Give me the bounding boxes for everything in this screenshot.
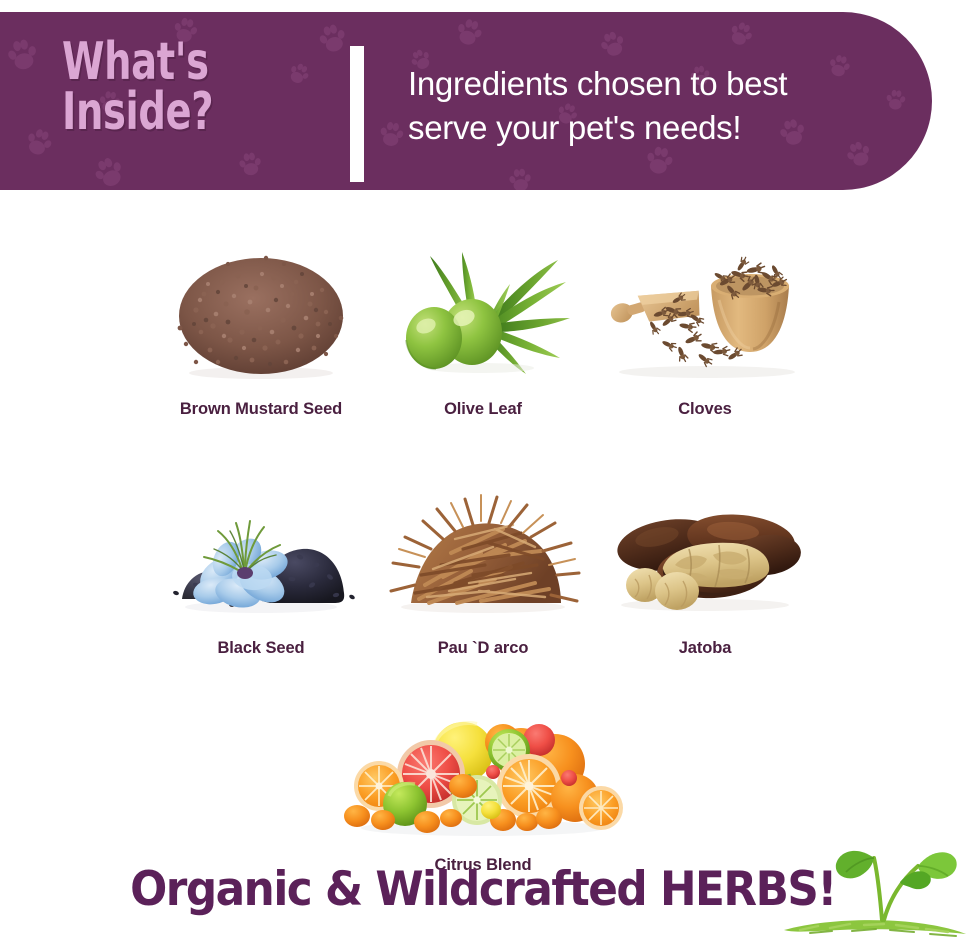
jatoba-pods-image bbox=[605, 475, 805, 623]
infographic-page: What's Inside? Ingredients chosen to bes… bbox=[0, 0, 966, 950]
banner-tagline: Ingredients chosen to best serve your pe… bbox=[408, 62, 918, 150]
header-banner: What's Inside? Ingredients chosen to bes… bbox=[0, 12, 932, 190]
ingredient-item-olive-leaf: Olive Leaf bbox=[372, 236, 594, 419]
ingredient-label: Black Seed bbox=[217, 639, 304, 658]
ingredient-row: Brown Mustard Seed bbox=[0, 236, 966, 419]
banner-heading: What's Inside? bbox=[62, 38, 262, 138]
ingredient-label: Brown Mustard Seed bbox=[180, 400, 342, 419]
ingredient-row: Black Seed bbox=[0, 475, 966, 658]
ingredient-label: Olive Leaf bbox=[444, 400, 522, 419]
mustard-seed-pile-image bbox=[161, 236, 361, 384]
citrus-fruit-assortment-image bbox=[343, 710, 623, 840]
cloves-bowl-and-scoop-image bbox=[605, 236, 805, 384]
nigella-flower-and-black-seeds-image bbox=[161, 475, 361, 623]
footer-headline: Organic & Wildcrafted HERBS! bbox=[34, 862, 932, 917]
footer-headline-area: Organic & Wildcrafted HERBS! bbox=[0, 848, 966, 944]
pau-darco-bark-shavings-image bbox=[383, 475, 583, 623]
ingredient-item-cloves: Cloves bbox=[594, 236, 816, 419]
ingredient-label: Jatoba bbox=[679, 639, 732, 658]
ingredient-item-jatoba: Jatoba bbox=[594, 475, 816, 658]
olives-with-leaves-image bbox=[383, 236, 583, 384]
ingredient-item-brown-mustard-seed: Brown Mustard Seed bbox=[150, 236, 372, 419]
ingredient-grid: Brown Mustard Seed bbox=[0, 236, 966, 875]
ingredient-item-pau-darco: Pau `D arco bbox=[372, 475, 594, 658]
ingredient-item-black-seed: Black Seed bbox=[150, 475, 372, 658]
banner-divider bbox=[350, 46, 364, 182]
ingredient-label: Cloves bbox=[678, 400, 732, 419]
ingredient-label: Pau `D arco bbox=[438, 639, 529, 658]
